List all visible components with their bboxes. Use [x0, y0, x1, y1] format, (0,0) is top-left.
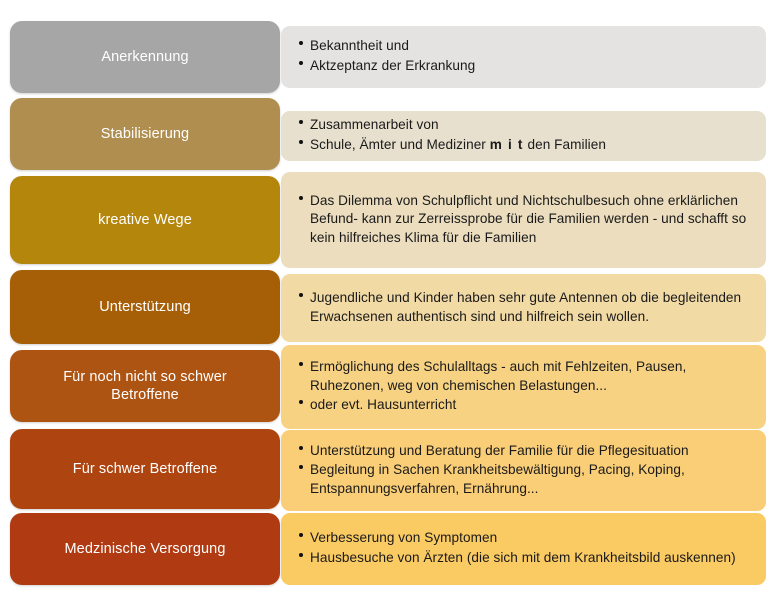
bullet-dot-icon	[299, 446, 303, 450]
bullet-dot-icon	[299, 362, 303, 366]
bullet-item: oder evt. Hausunterricht	[299, 396, 752, 415]
bullet-text: Bekanntheit und	[310, 38, 409, 53]
stage-chip-label: Unterstützung	[24, 298, 266, 316]
bullet-dot-icon	[299, 553, 303, 557]
stage-chip-kreative-wege[interactable]: kreative Wege	[10, 176, 280, 264]
bullet-text: Verbesserung von Symptomen	[310, 530, 497, 545]
stage-detail-panel-unterstuetzung: Jugendliche und Kinder haben sehr gute A…	[281, 274, 766, 342]
stage-detail-panel-medzinische-versorgung: Verbesserung von SymptomenHausbesuche vo…	[281, 513, 766, 585]
bullet-list: Zusammenarbeit vonSchule, Ämter und Medi…	[299, 116, 752, 155]
stepwise-support-diagram: AnerkennungBekanntheit undAktzeptanz der…	[0, 0, 774, 600]
bullet-dot-icon	[299, 120, 303, 124]
bullet-list: Das Dilemma von Schulpflicht und Nichtsc…	[299, 192, 752, 249]
stage-chip-label: kreative Wege	[24, 211, 266, 229]
bullet-item: Jugendliche und Kinder haben sehr gute A…	[299, 289, 752, 326]
stage-detail-panel-noch-nicht-so-schwer-betroffene: Ermöglichung des Schulalltags - auch mit…	[281, 345, 766, 429]
stage-chip-label: Für noch nicht so schwer Betroffene	[24, 368, 266, 404]
bullet-list: Ermöglichung des Schulalltags - auch mit…	[299, 358, 752, 416]
stage-chip-label: Stabilisierung	[24, 125, 266, 143]
bullet-dot-icon	[299, 140, 303, 144]
stage-chip-schwer-betroffene[interactable]: Für schwer Betroffene	[10, 429, 280, 509]
bullet-item: Schule, Ämter und Mediziner m i t den Fa…	[299, 136, 752, 155]
stage-chip-stabilisierung[interactable]: Stabilisierung	[10, 98, 280, 170]
bullet-text: Schule, Ämter und Mediziner m i t den Fa…	[310, 137, 606, 152]
bullet-item: Hausbesuche von Ärzten (die sich mit dem…	[299, 549, 752, 568]
bullet-list: Jugendliche und Kinder haben sehr gute A…	[299, 289, 752, 327]
stage-chip-label: Für schwer Betroffene	[24, 460, 266, 478]
bullet-text: oder evt. Hausunterricht	[310, 397, 456, 412]
stage-detail-panel-stabilisierung: Zusammenarbeit vonSchule, Ämter und Medi…	[281, 111, 766, 161]
bullet-text: Begleitung in Sachen Krankheitsbewältigu…	[310, 462, 685, 496]
bullet-text: Zusammenarbeit von	[310, 117, 439, 132]
bullet-item: Bekanntheit und	[299, 37, 752, 56]
bullet-list: Bekanntheit undAktzeptanz der Erkrankung	[299, 37, 752, 76]
bullet-item: Das Dilemma von Schulpflicht und Nichtsc…	[299, 192, 752, 248]
stage-detail-panel-kreative-wege: Das Dilemma von Schulpflicht und Nichtsc…	[281, 172, 766, 268]
bullet-dot-icon	[299, 196, 303, 200]
stage-detail-panel-schwer-betroffene: Unterstützung und Beratung der Familie f…	[281, 430, 766, 511]
stage-chip-noch-nicht-so-schwer-betroffene[interactable]: Für noch nicht so schwer Betroffene	[10, 350, 280, 422]
stage-chip-anerkennung[interactable]: Anerkennung	[10, 21, 280, 93]
bullet-text: Jugendliche und Kinder haben sehr gute A…	[310, 290, 741, 324]
bullet-dot-icon	[299, 465, 303, 469]
bullet-list: Unterstützung und Beratung der Familie f…	[299, 442, 752, 500]
bullet-dot-icon	[299, 400, 303, 404]
bullet-item: Verbesserung von Symptomen	[299, 529, 752, 548]
stage-chip-label: Medzinische Versorgung	[24, 540, 266, 558]
bullet-item: Aktzeptanz der Erkrankung	[299, 57, 752, 76]
stage-chip-unterstuetzung[interactable]: Unterstützung	[10, 270, 280, 344]
stage-chip-medzinische-versorgung[interactable]: Medzinische Versorgung	[10, 513, 280, 585]
bullet-dot-icon	[299, 41, 303, 45]
bullet-text: Hausbesuche von Ärzten (die sich mit dem…	[310, 550, 736, 565]
bullet-item: Zusammenarbeit von	[299, 116, 752, 135]
stage-chip-label: Anerkennung	[24, 48, 266, 66]
bullet-text: Aktzeptanz der Erkrankung	[310, 58, 475, 73]
bullet-item: Unterstützung und Beratung der Familie f…	[299, 442, 752, 461]
bullet-dot-icon	[299, 533, 303, 537]
stage-detail-panel-anerkennung: Bekanntheit undAktzeptanz der Erkrankung	[281, 26, 766, 88]
bullet-list: Verbesserung von SymptomenHausbesuche vo…	[299, 529, 752, 568]
bullet-item: Ermöglichung des Schulalltags - auch mit…	[299, 358, 752, 395]
bullet-dot-icon	[299, 61, 303, 65]
bullet-item: Begleitung in Sachen Krankheitsbewältigu…	[299, 461, 752, 498]
bullet-text: Das Dilemma von Schulpflicht und Nichtsc…	[310, 193, 746, 245]
bullet-text: Ermöglichung des Schulalltags - auch mit…	[310, 359, 686, 393]
bullet-dot-icon	[299, 293, 303, 297]
bullet-text: Unterstützung und Beratung der Familie f…	[310, 443, 689, 458]
